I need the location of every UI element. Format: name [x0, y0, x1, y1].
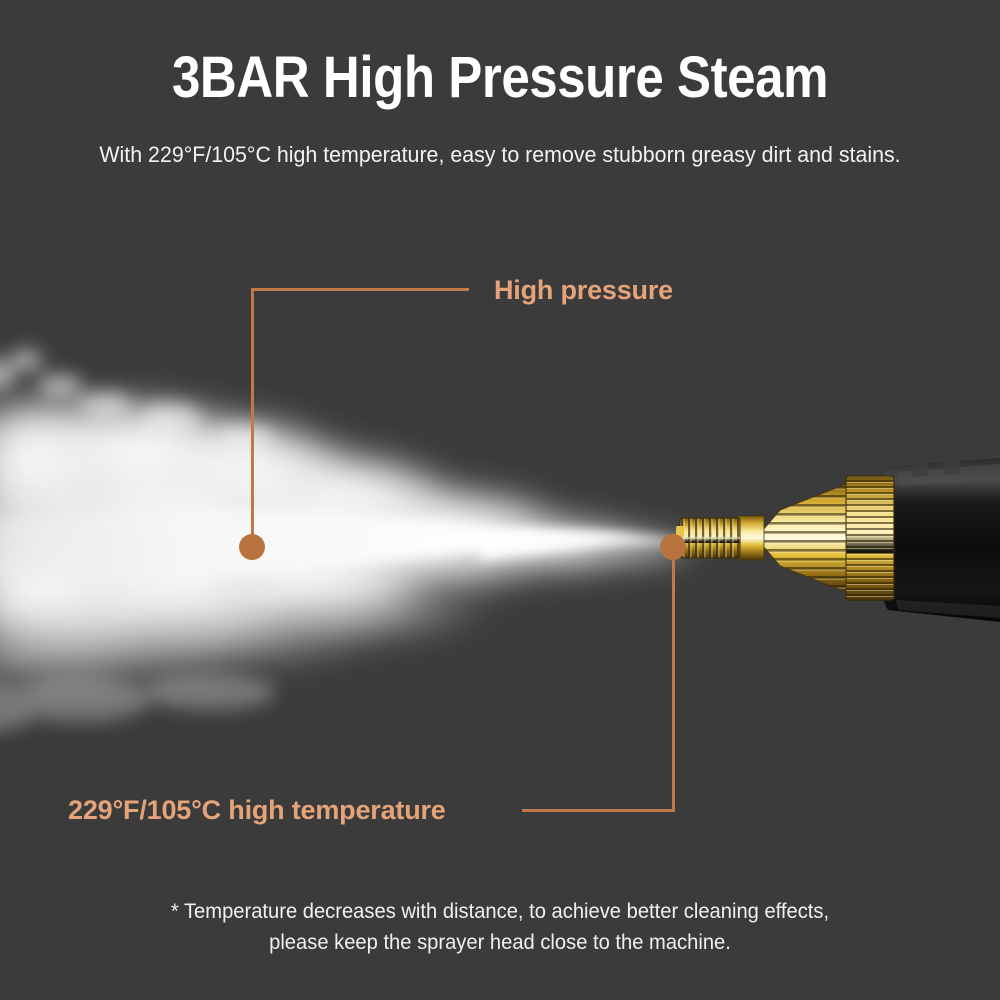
product-feature-poster: 3BAR High Pressure Steam With 229°F/105°…	[0, 0, 1000, 1000]
page-subtitle: With 229°F/105°C high temperature, easy …	[25, 140, 975, 170]
threaded-tip	[676, 518, 740, 558]
finned-barrel	[756, 484, 846, 592]
nozzle-neck	[738, 516, 764, 560]
page-title: 3BAR High Pressure Steam	[60, 46, 940, 110]
footnote: * Temperature decreases with distance, t…	[20, 896, 980, 958]
callout-high-temperature-dot	[660, 534, 686, 560]
callout-high-pressure-dot	[239, 534, 265, 560]
callout-high-temperature-line-vertical	[672, 556, 675, 812]
callout-high-pressure-line-horizontal	[251, 288, 469, 291]
brass-sprayer-nozzle	[660, 450, 1000, 630]
machine-body	[878, 458, 1000, 622]
footnote-line-2: please keep the sprayer head close to th…	[20, 927, 980, 958]
footnote-line-1: * Temperature decreases with distance, t…	[20, 896, 980, 927]
knurled-collar	[846, 476, 894, 600]
callout-high-pressure-label: High pressure	[494, 274, 673, 306]
callout-high-pressure-line-vertical	[251, 288, 254, 540]
callout-high-temperature-line-horizontal	[522, 809, 675, 812]
callout-high-temperature-label: 229°F/105°C high temperature	[68, 794, 446, 826]
